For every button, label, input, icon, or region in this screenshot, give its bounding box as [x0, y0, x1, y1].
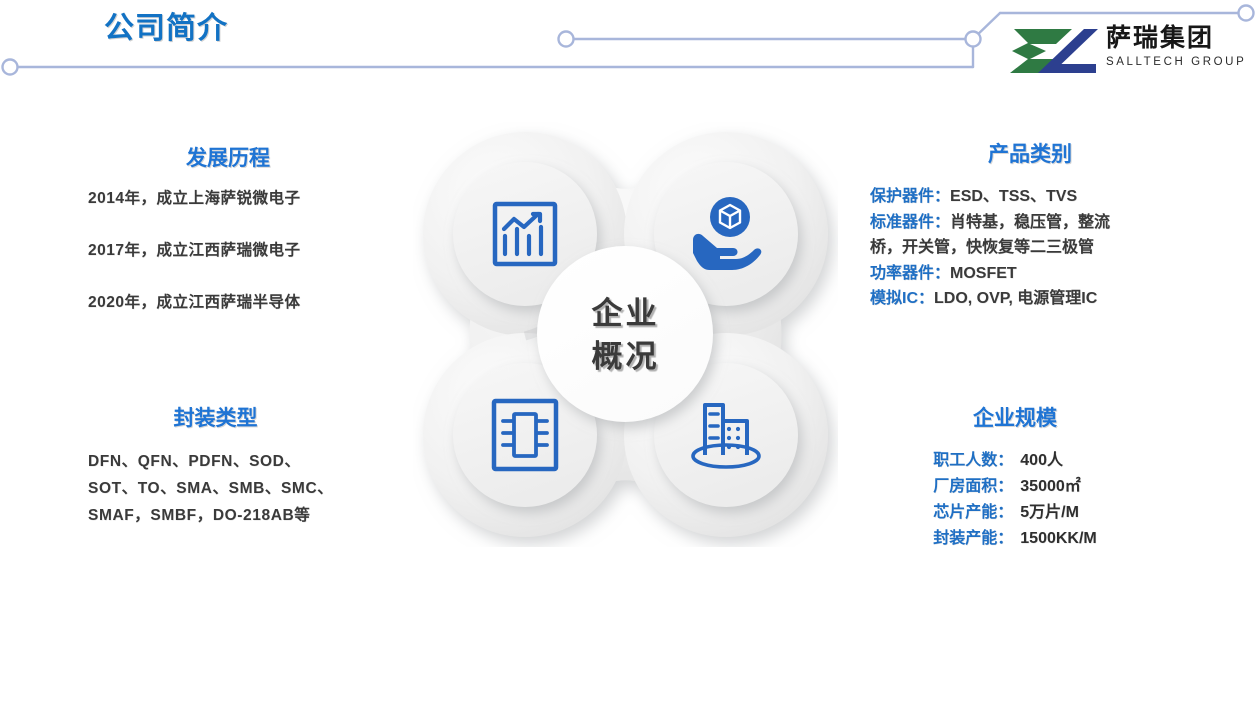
list-item: 标准器件：肖特基，稳压管，整流	[870, 210, 1190, 236]
scale-key: 职工人数：	[933, 448, 1013, 474]
deco-node-mid	[559, 32, 574, 47]
block-history: 发展历程 2014年，成立上海萨锐微电子 2017年，成立江西萨瑞微电子 202…	[88, 142, 368, 314]
list-item: 2020年，成立江西萨瑞半导体	[88, 292, 368, 314]
block-packages: 封装类型 DFN、QFN、PDFN、SOD、SOT、TO、SMA、SMB、SMC…	[88, 402, 343, 529]
list-item: 2014年，成立上海萨锐微电子	[88, 188, 368, 210]
deco-node-junction	[966, 32, 981, 47]
slide: 公司简介 萨瑞集团 SALLTECH GROUP 发展历程 2014年，成立上海…	[0, 0, 1256, 704]
list-item: 功率器件：MOSFET	[870, 261, 1190, 287]
block-scale-heading: 企业规模	[890, 402, 1140, 432]
scale-key: 厂房面积：	[933, 474, 1013, 500]
logo-wordmark: 萨瑞集团 SALLTECH GROUP	[1106, 22, 1246, 69]
scale-value: 5万片/M	[1013, 500, 1096, 526]
company-logo: 萨瑞集团 SALLTECH GROUP	[1006, 24, 1246, 82]
product-label: 保护器件：	[870, 188, 950, 205]
product-label: 模拟IC：	[870, 290, 934, 307]
table-row: 封装产能： 1500KK/M	[933, 526, 1097, 552]
scale-key: 封装产能：	[933, 526, 1013, 552]
product-value: ESD、TSS、TVS	[950, 188, 1077, 205]
products-list: 保护器件：ESD、TSS、TVS 标准器件：肖特基，稳压管，整流 桥，开关管，快…	[870, 184, 1190, 312]
history-list: 2014年，成立上海萨锐微电子 2017年，成立江西萨瑞微电子 2020年，成立…	[88, 188, 368, 314]
scale-value: 400人	[1013, 448, 1096, 474]
product-value: 桥，开关管，快恢复等二三极管	[870, 239, 1094, 256]
deco-node-left	[3, 60, 18, 75]
page-title: 公司简介	[104, 8, 228, 50]
center-graphic: 企业 概况	[413, 122, 838, 547]
product-label: 功率器件：	[870, 265, 950, 282]
logo-name-cn: 萨瑞集团	[1106, 22, 1246, 54]
packages-body: DFN、QFN、PDFN、SOD、SOT、TO、SMA、SMB、SMC、SMAF…	[88, 448, 338, 529]
salltech-sl-logo-icon	[1006, 26, 1098, 76]
list-item: 保护器件：ESD、TSS、TVS	[870, 184, 1190, 210]
list-item: 2017年，成立江西萨瑞微电子	[88, 240, 368, 262]
product-value: LDO, OVP, 电源管理IC	[934, 290, 1097, 307]
scale-key: 芯片产能：	[933, 500, 1013, 526]
center-core-circle	[537, 246, 713, 422]
list-item: 模拟IC：LDO, OVP, 电源管理IC	[870, 286, 1190, 312]
product-value: MOSFET	[950, 265, 1017, 282]
list-item: 桥，开关管，快恢复等二三极管	[870, 235, 1190, 261]
scale-value: 35000㎡	[1013, 474, 1096, 500]
table-row: 职工人数： 400人	[933, 448, 1097, 474]
scale-value: 1500KK/M	[1013, 526, 1096, 552]
block-packages-heading: 封装类型	[88, 402, 343, 432]
block-scale: 企业规模 职工人数： 400人 厂房面积： 35000㎡ 芯片产能： 5万片/M…	[890, 402, 1140, 552]
block-history-heading: 发展历程	[88, 142, 368, 172]
logo-name-en: SALLTECH GROUP	[1106, 55, 1246, 69]
table-row: 芯片产能： 5万片/M	[933, 500, 1097, 526]
product-value: 肖特基，稳压管，整流	[950, 214, 1110, 231]
block-products-heading: 产品类别	[870, 138, 1190, 168]
center-lobed-shape	[413, 122, 838, 547]
table-row: 厂房面积： 35000㎡	[933, 474, 1097, 500]
block-products: 产品类别 保护器件：ESD、TSS、TVS 标准器件：肖特基，稳压管，整流 桥，…	[870, 138, 1190, 312]
scale-table: 职工人数： 400人 厂房面积： 35000㎡ 芯片产能： 5万片/M 封装产能…	[933, 448, 1097, 552]
product-label: 标准器件：	[870, 214, 950, 231]
deco-node-right	[1239, 6, 1254, 21]
